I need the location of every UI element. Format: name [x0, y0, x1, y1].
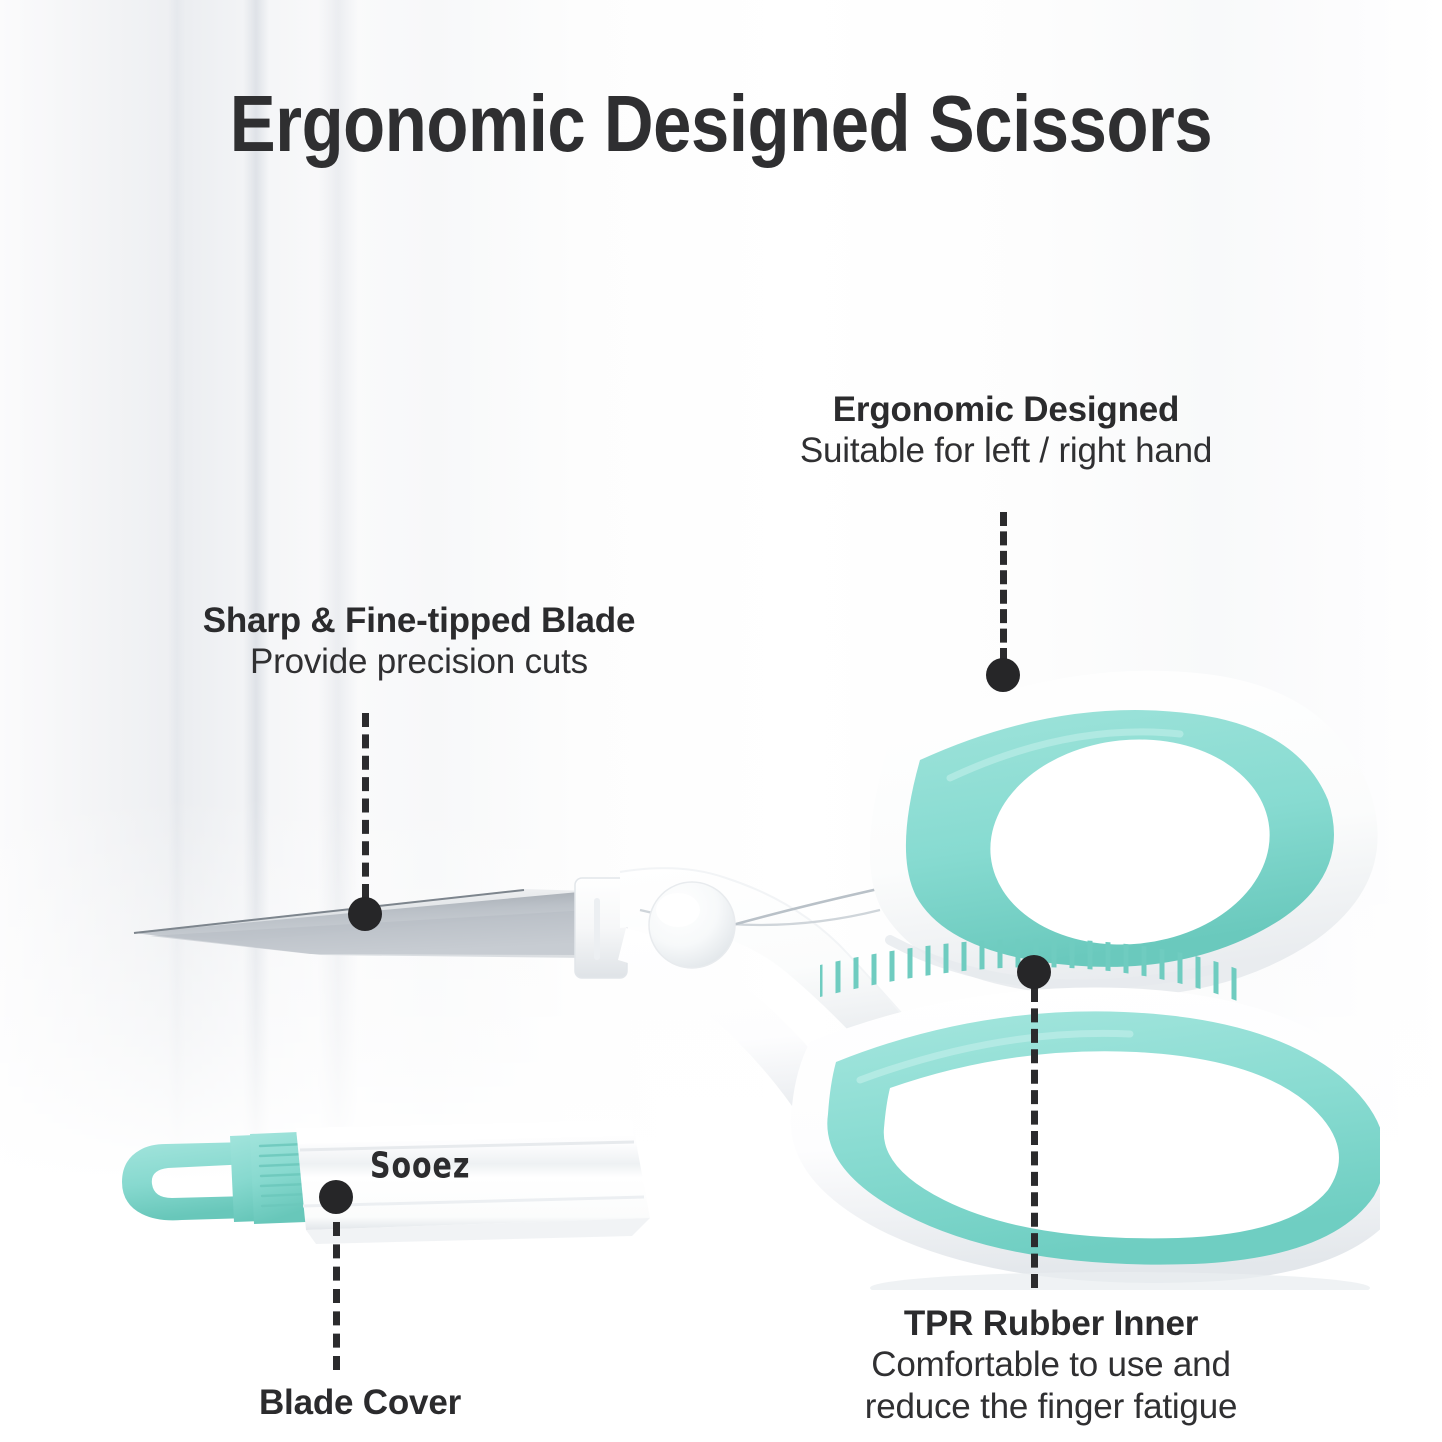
- brand-wordmark: Sooez: [370, 1146, 470, 1187]
- leader-dot-tpr: [1017, 955, 1051, 989]
- callout-tpr-subtext-line2: reduce the finger fatigue: [766, 1386, 1336, 1427]
- callout-blade-subtext: Provide precision cuts: [104, 641, 734, 682]
- callout-blade-cover-heading: Blade Cover: [110, 1382, 610, 1423]
- leader-line-tpr: [1031, 988, 1038, 1288]
- leader-dot-blade-cover: [319, 1180, 353, 1214]
- callout-tpr-rubber-inner: TPR Rubber Inner Comfortable to use and …: [766, 1303, 1336, 1427]
- callout-blade-cover: Blade Cover: [110, 1382, 610, 1423]
- callout-ergonomic-subtext: Suitable for left / right hand: [706, 430, 1306, 471]
- callout-blade-heading: Sharp & Fine-tipped Blade: [104, 600, 734, 641]
- leader-line-blade-cover: [333, 1222, 340, 1370]
- callout-tpr-heading: TPR Rubber Inner: [766, 1303, 1336, 1344]
- leader-dot-ergonomic: [986, 658, 1020, 692]
- leader-dot-blade: [348, 897, 382, 931]
- callout-ergonomic-heading: Ergonomic Designed: [706, 389, 1306, 430]
- callout-ergonomic-designed: Ergonomic Designed Suitable for left / r…: [706, 389, 1306, 472]
- product-infographic: Sooez Ergonomic Designed Scissors Ergono…: [0, 0, 1442, 1442]
- leader-line-ergonomic: [1000, 512, 1007, 662]
- page-title: Ergonomic Designed Scissors: [101, 82, 1341, 165]
- callout-sharp-blade: Sharp & Fine-tipped Blade Provide precis…: [104, 600, 734, 683]
- callout-tpr-subtext-line1: Comfortable to use and: [766, 1344, 1336, 1385]
- background-vertical-fade: [0, 0, 1442, 1442]
- leader-line-blade: [362, 713, 369, 898]
